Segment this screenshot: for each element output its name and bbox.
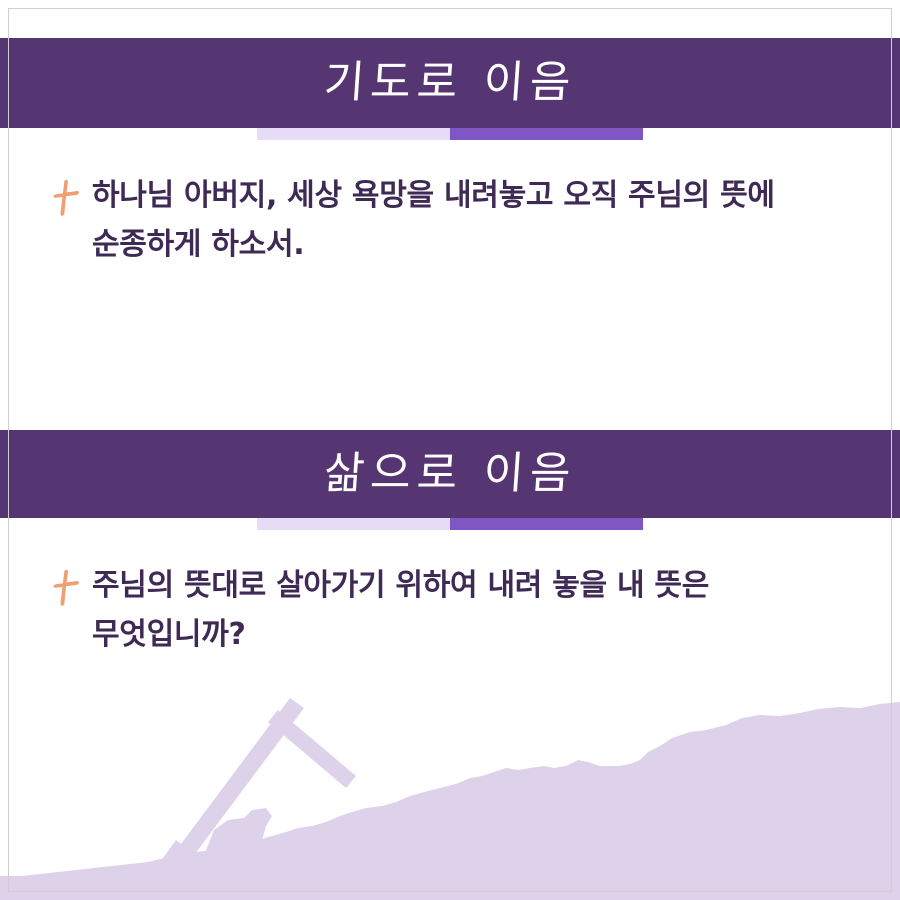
- accent-bar-light: [257, 518, 450, 530]
- accent-bar-dark: [450, 518, 643, 530]
- section-1-heading-band: 기도로 이음: [0, 38, 900, 128]
- devotional-card: 기도로 이음 하나님 아버지, 세상 욕망을 내려놓고 오직 주님의 뜻에 순종…: [0, 0, 900, 900]
- accent-bar-dark: [450, 128, 643, 140]
- section-2-body: 주님의 뜻대로 살아가기 위하여 내려 놓을 내 뜻은 무엇입니까?: [52, 562, 872, 659]
- section-2-accent-bars: [257, 518, 643, 530]
- cross-icon: [52, 178, 86, 218]
- cross-icon: [52, 568, 86, 608]
- section-1-accent-bars: [257, 128, 643, 140]
- section-2-heading-band: 삶으로 이음: [0, 430, 900, 518]
- accent-bar-light: [257, 128, 450, 140]
- section-2-heading: 삶으로 이음: [322, 452, 577, 496]
- cross-bearer-hill-artwork: [0, 680, 900, 900]
- ground-strip: [0, 876, 900, 900]
- section-1-heading: 기도로 이음: [322, 61, 577, 105]
- section-1-body-text: 하나님 아버지, 세상 욕망을 내려놓고 오직 주님의 뜻에 순종하게 하소서.: [92, 172, 872, 269]
- section-1-body: 하나님 아버지, 세상 욕망을 내려놓고 오직 주님의 뜻에 순종하게 하소서.: [52, 172, 872, 269]
- hill-shape: [0, 702, 900, 900]
- section-2-body-text: 주님의 뜻대로 살아가기 위하여 내려 놓을 내 뜻은 무엇입니까?: [92, 562, 872, 659]
